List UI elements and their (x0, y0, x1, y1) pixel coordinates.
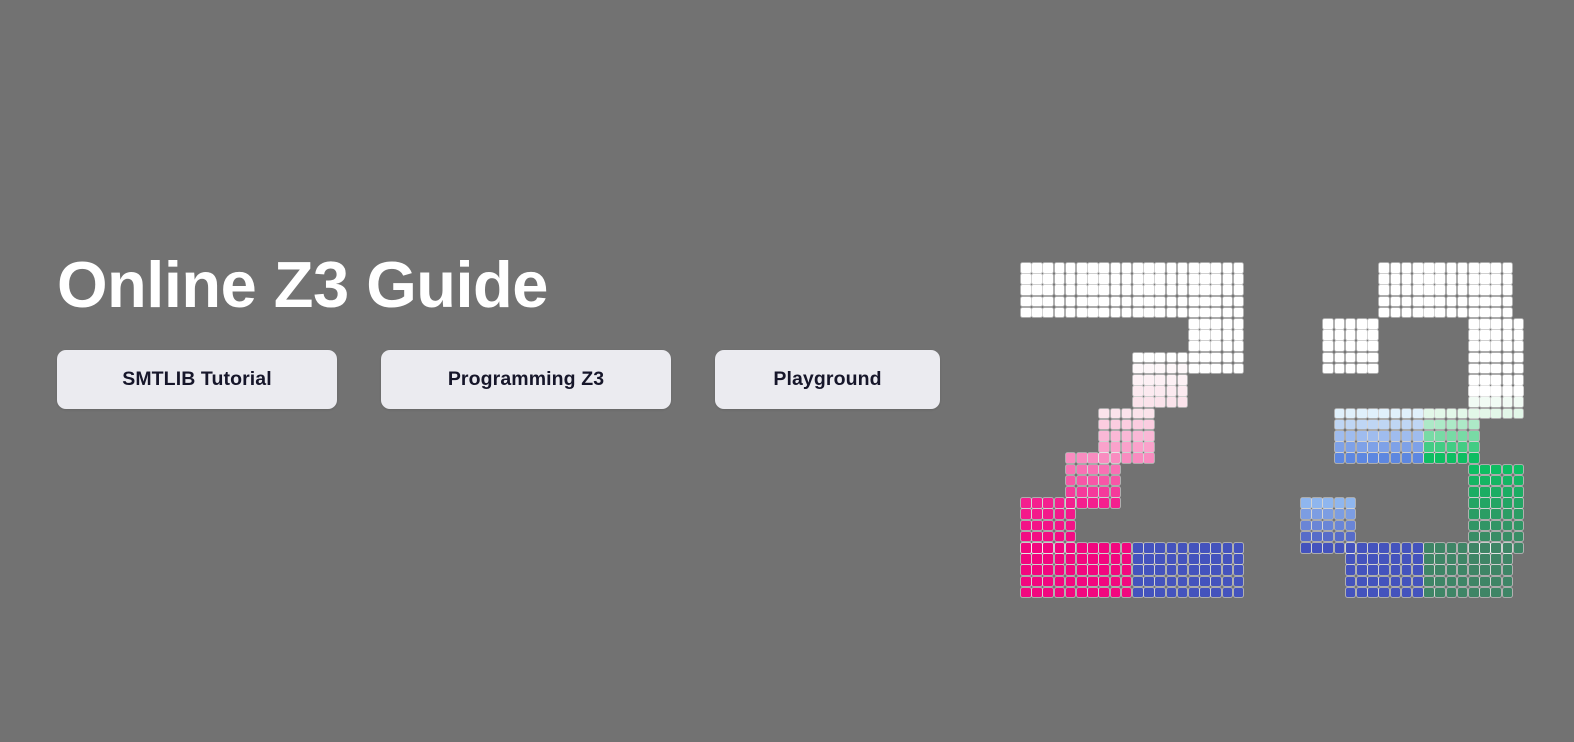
logo-pixel (1043, 554, 1053, 564)
logo-pixel (1066, 565, 1076, 575)
logo-pixel (1200, 285, 1210, 295)
logo-pixel (1335, 409, 1345, 419)
logo-pixel (1301, 498, 1311, 508)
logo-pixel (1223, 577, 1233, 587)
logo-pixel (1066, 498, 1076, 508)
logo-pixel (1167, 375, 1177, 385)
logo-pixel (1223, 588, 1233, 598)
logo-pixel (1469, 431, 1479, 441)
logo-pixel (1447, 263, 1457, 273)
logo-pixel (1111, 487, 1121, 497)
page-root: Online Z3 Guide SMTLIB Tutorial Programm… (0, 0, 1574, 742)
logo-pixel (1167, 364, 1177, 374)
logo-pixel (1469, 263, 1479, 273)
logo-pixel (1435, 263, 1445, 273)
logo-pixel (1223, 364, 1233, 374)
logo-pixel (1514, 409, 1524, 419)
logo-pixel (1391, 442, 1401, 452)
logo-pixel (1480, 509, 1490, 519)
logo-pixel (1178, 274, 1188, 284)
logo-pixel (1155, 263, 1165, 273)
logo-pixel (1211, 565, 1221, 575)
logo-pixel (1178, 297, 1188, 307)
logo-pixel (1335, 453, 1345, 463)
playground-button[interactable]: Playground (715, 350, 940, 409)
logo-pixel (1043, 297, 1053, 307)
logo-pixel (1458, 453, 1468, 463)
logo-pixel (1211, 297, 1221, 307)
logo-pixel (1424, 285, 1434, 295)
logo-pixel (1480, 386, 1490, 396)
logo-pixel (1200, 263, 1210, 273)
logo-pixel (1346, 588, 1356, 598)
logo-pixel (1503, 341, 1513, 351)
logo-pixel (1391, 577, 1401, 587)
logo-pixel (1323, 509, 1333, 519)
hero-section: Online Z3 Guide SMTLIB Tutorial Programm… (57, 252, 957, 409)
logo-pixel (1480, 577, 1490, 587)
logo-pixel (1066, 532, 1076, 542)
logo-pixel (1379, 285, 1389, 295)
logo-pixel (1391, 308, 1401, 318)
logo-pixel (1503, 532, 1513, 542)
logo-pixel (1480, 554, 1490, 564)
logo-pixel (1435, 297, 1445, 307)
logo-pixel (1491, 554, 1501, 564)
logo-pixel (1368, 319, 1378, 329)
logo-pixel (1155, 274, 1165, 284)
logo-pixel (1503, 554, 1513, 564)
logo-pixel (1088, 498, 1098, 508)
logo-pixel (1133, 386, 1143, 396)
logo-pixel (1200, 565, 1210, 575)
logo-pixel (1514, 532, 1524, 542)
logo-pixel (1099, 588, 1109, 598)
logo-pixel (1413, 588, 1423, 598)
logo-pixel (1133, 420, 1143, 430)
logo-pixel (1503, 409, 1513, 419)
logo-pixel (1234, 588, 1244, 598)
logo-pixel (1480, 364, 1490, 374)
logo-pixel (1133, 565, 1143, 575)
logo-pixel (1335, 353, 1345, 363)
logo-pixel (1368, 453, 1378, 463)
primary-nav-button-row: SMTLIB Tutorial Programming Z3 Playgroun… (57, 350, 957, 409)
logo-pixel (1167, 263, 1177, 273)
logo-pixel (1223, 543, 1233, 553)
logo-pixel (1435, 431, 1445, 441)
logo-pixel (1469, 565, 1479, 575)
logo-pixel (1480, 341, 1490, 351)
logo-pixel (1379, 274, 1389, 284)
logo-pixel (1055, 565, 1065, 575)
logo-pixel (1189, 274, 1199, 284)
logo-pixel (1480, 308, 1490, 318)
logo-pixel (1043, 498, 1053, 508)
logo-pixel (1480, 532, 1490, 542)
logo-pixel (1223, 274, 1233, 284)
logo-pixel (1223, 308, 1233, 318)
logo-pixel (1503, 487, 1513, 497)
logo-pixel (1312, 509, 1322, 519)
logo-pixel (1189, 319, 1199, 329)
logo-pixel (1111, 588, 1121, 598)
logo-pixel (1368, 577, 1378, 587)
logo-pixel (1469, 397, 1479, 407)
logo-pixel (1346, 442, 1356, 452)
logo-pixel (1189, 543, 1199, 553)
logo-pixel (1312, 498, 1322, 508)
logo-pixel (1357, 330, 1367, 340)
logo-pixel (1514, 498, 1524, 508)
logo-pixel (1514, 465, 1524, 475)
logo-pixel (1144, 308, 1154, 318)
logo-pixel (1346, 509, 1356, 519)
logo-pixel (1200, 364, 1210, 374)
logo-pixel (1133, 274, 1143, 284)
logo-pixel (1413, 285, 1423, 295)
logo-pixel (1480, 375, 1490, 385)
logo-pixel (1077, 577, 1087, 587)
logo-pixel (1032, 577, 1042, 587)
logo-pixel (1469, 465, 1479, 475)
logo-pixel (1458, 554, 1468, 564)
logo-pixel (1391, 409, 1401, 419)
logo-pixel (1424, 409, 1434, 419)
logo-pixel (1043, 565, 1053, 575)
logo-pixel (1503, 509, 1513, 519)
logo-pixel (1447, 577, 1457, 587)
logo-pixel (1021, 554, 1031, 564)
logo-pixel (1111, 498, 1121, 508)
logo-pixel (1391, 431, 1401, 441)
logo-pixel (1301, 532, 1311, 542)
logo-pixel (1514, 364, 1524, 374)
logo-pixel (1469, 498, 1479, 508)
logo-pixel (1066, 554, 1076, 564)
logo-pixel (1335, 498, 1345, 508)
logo-pixel (1469, 476, 1479, 486)
logo-pixel (1469, 364, 1479, 374)
logo-pixel (1368, 442, 1378, 452)
logo-pixel (1514, 521, 1524, 531)
logo-pixel (1021, 521, 1031, 531)
logo-pixel (1368, 543, 1378, 553)
logo-pixel (1413, 297, 1423, 307)
logo-pixel (1413, 554, 1423, 564)
logo-pixel (1379, 420, 1389, 430)
logo-pixel (1335, 341, 1345, 351)
logo-pixel (1447, 297, 1457, 307)
logo-pixel (1346, 554, 1356, 564)
logo-pixel (1402, 442, 1412, 452)
logo-pixel (1099, 285, 1109, 295)
logo-pixel (1234, 274, 1244, 284)
logo-pixel (1144, 442, 1154, 452)
logo-pixel (1043, 543, 1053, 553)
logo-pixel (1435, 308, 1445, 318)
logo-pixel (1458, 565, 1468, 575)
logo-pixel (1133, 263, 1143, 273)
logo-pixel (1491, 308, 1501, 318)
logo-pixel (1155, 353, 1165, 363)
logo-pixel (1447, 554, 1457, 564)
logo-pixel (1200, 297, 1210, 307)
logo-pixel (1133, 297, 1143, 307)
logo-pixel (1447, 274, 1457, 284)
logo-pixel (1189, 353, 1199, 363)
logo-pixel (1055, 543, 1065, 553)
logo-pixel (1424, 420, 1434, 430)
logo-pixel (1133, 431, 1143, 441)
logo-pixel (1189, 285, 1199, 295)
logo-pixel (1189, 263, 1199, 273)
logo-pixel (1122, 588, 1132, 598)
logo-pixel (1234, 364, 1244, 374)
logo-pixel (1043, 532, 1053, 542)
logo-pixel (1133, 409, 1143, 419)
logo-pixel (1122, 263, 1132, 273)
logo-pixel (1066, 509, 1076, 519)
logo-pixel (1424, 308, 1434, 318)
logo-pixel (1435, 577, 1445, 587)
logo-pixel (1122, 308, 1132, 318)
logo-pixel (1178, 577, 1188, 587)
logo-pixel (1323, 532, 1333, 542)
logo-pixel (1469, 509, 1479, 519)
programming-z3-button[interactable]: Programming Z3 (381, 350, 671, 409)
logo-pixel (1055, 308, 1065, 318)
logo-pixel (1111, 465, 1121, 475)
logo-pixel (1155, 308, 1165, 318)
logo-pixel (1111, 476, 1121, 486)
logo-pixel (1357, 319, 1367, 329)
logo-pixel (1099, 297, 1109, 307)
logo-pixel (1357, 409, 1367, 419)
logo-pixel (1323, 353, 1333, 363)
logo-pixel (1189, 565, 1199, 575)
logo-pixel (1144, 285, 1154, 295)
logo-pixel (1211, 263, 1221, 273)
logo-pixel (1503, 375, 1513, 385)
logo-pixel (1088, 476, 1098, 486)
logo-pixel (1312, 543, 1322, 553)
logo-pixel (1402, 543, 1412, 553)
logo-pixel (1088, 577, 1098, 587)
logo-pixel (1391, 588, 1401, 598)
logo-pixel (1189, 554, 1199, 564)
logo-pixel (1480, 353, 1490, 363)
logo-pixel (1491, 521, 1501, 531)
logo-pixel (1211, 319, 1221, 329)
logo-pixel (1503, 476, 1513, 486)
logo-pixel (1111, 565, 1121, 575)
logo-pixel (1435, 442, 1445, 452)
logo-pixel (1402, 409, 1412, 419)
logo-pixel (1021, 588, 1031, 598)
logo-pixel (1424, 431, 1434, 441)
logo-pixel (1469, 386, 1479, 396)
logo-pixel (1413, 453, 1423, 463)
logo-pixel (1223, 554, 1233, 564)
logo-pixel (1447, 565, 1457, 575)
logo-pixel (1503, 577, 1513, 587)
logo-pixel (1458, 420, 1468, 430)
logo-pixel (1503, 274, 1513, 284)
logo-pixel (1178, 375, 1188, 385)
logo-pixel (1335, 431, 1345, 441)
logo-pixel (1099, 431, 1109, 441)
logo-pixel (1458, 431, 1468, 441)
logo-pixel (1503, 521, 1513, 531)
logo-pixel (1480, 285, 1490, 295)
logo-pixel (1200, 554, 1210, 564)
logo-pixel (1099, 409, 1109, 419)
logo-pixel (1189, 364, 1199, 374)
logo-pixel (1469, 532, 1479, 542)
logo-pixel (1211, 274, 1221, 284)
logo-pixel (1491, 498, 1501, 508)
logo-pixel (1234, 319, 1244, 329)
logo-pixel (1379, 543, 1389, 553)
logo-pixel (1346, 521, 1356, 531)
logo-pixel (1391, 420, 1401, 430)
logo-pixel (1144, 397, 1154, 407)
logo-pixel (1133, 577, 1143, 587)
logo-pixel (1099, 476, 1109, 486)
logo-pixel (1133, 588, 1143, 598)
logo-pixel (1346, 330, 1356, 340)
logo-pixel (1391, 554, 1401, 564)
logo-pixel (1133, 442, 1143, 452)
logo-pixel (1066, 453, 1076, 463)
logo-pixel (1133, 308, 1143, 318)
logo-pixel (1424, 565, 1434, 575)
logo-pixel (1099, 308, 1109, 318)
logo-pixel (1391, 274, 1401, 284)
logo-pixel (1514, 509, 1524, 519)
logo-pixel (1346, 409, 1356, 419)
logo-pixel (1144, 565, 1154, 575)
logo-pixel (1144, 375, 1154, 385)
logo-pixel (1514, 375, 1524, 385)
logo-pixel (1469, 554, 1479, 564)
logo-pixel (1066, 521, 1076, 531)
logo-pixel (1379, 308, 1389, 318)
logo-pixel (1178, 397, 1188, 407)
logo-pixel (1458, 577, 1468, 587)
logo-pixel (1122, 565, 1132, 575)
logo-pixel (1122, 554, 1132, 564)
logo-pixel (1211, 577, 1221, 587)
logo-pixel (1055, 577, 1065, 587)
logo-pixel (1312, 521, 1322, 531)
logo-pixel (1469, 588, 1479, 598)
logo-pixel (1178, 353, 1188, 363)
logo-pixel (1099, 263, 1109, 273)
logo-pixel (1032, 498, 1042, 508)
logo-pixel (1032, 543, 1042, 553)
logo-pixel (1458, 543, 1468, 553)
logo-pixel (1503, 386, 1513, 396)
logo-pixel (1480, 409, 1490, 419)
logo-pixel (1099, 498, 1109, 508)
logo-pixel (1312, 532, 1322, 542)
logo-pixel (1021, 308, 1031, 318)
logo-pixel (1234, 330, 1244, 340)
logo-pixel (1323, 543, 1333, 553)
logo-pixel (1200, 308, 1210, 318)
logo-pixel (1413, 274, 1423, 284)
logo-pixel (1357, 577, 1367, 587)
logo-pixel (1424, 442, 1434, 452)
logo-pixel (1491, 532, 1501, 542)
logo-pixel (1480, 330, 1490, 340)
logo-pixel (1066, 577, 1076, 587)
logo-pixel (1167, 386, 1177, 396)
logo-pixel (1491, 465, 1501, 475)
logo-pixel (1144, 543, 1154, 553)
logo-pixel (1491, 341, 1501, 351)
logo-pixel (1447, 285, 1457, 295)
logo-pixel (1133, 453, 1143, 463)
logo-pixel (1424, 577, 1434, 587)
logo-pixel (1234, 263, 1244, 273)
logo-pixel (1402, 285, 1412, 295)
logo-pixel (1223, 297, 1233, 307)
logo-pixel (1469, 577, 1479, 587)
smtlib-tutorial-button[interactable]: SMTLIB Tutorial (57, 350, 337, 409)
logo-pixel (1469, 353, 1479, 363)
logo-pixel (1088, 263, 1098, 273)
logo-pixel (1211, 543, 1221, 553)
logo-pixel (1077, 543, 1087, 553)
logo-pixel (1021, 263, 1031, 273)
logo-pixel (1055, 554, 1065, 564)
logo-pixel (1514, 476, 1524, 486)
logo-pixel (1335, 521, 1345, 531)
logo-pixel (1435, 588, 1445, 598)
logo-pixel (1402, 274, 1412, 284)
logo-pixel (1223, 263, 1233, 273)
logo-pixel (1111, 420, 1121, 430)
logo-pixel (1066, 297, 1076, 307)
logo-pixel (1391, 543, 1401, 553)
logo-pixel (1021, 274, 1031, 284)
logo-pixel (1402, 453, 1412, 463)
logo-pixel (1234, 341, 1244, 351)
logo-pixel (1167, 297, 1177, 307)
logo-pixel (1379, 453, 1389, 463)
logo-pixel (1144, 364, 1154, 374)
page-title: Online Z3 Guide (57, 252, 957, 317)
logo-pixel (1178, 285, 1188, 295)
logo-pixel (1077, 453, 1087, 463)
logo-pixel (1480, 397, 1490, 407)
logo-pixel (1088, 453, 1098, 463)
logo-pixel (1503, 565, 1513, 575)
logo-pixel (1122, 420, 1132, 430)
logo-pixel (1133, 285, 1143, 295)
logo-pixel (1200, 330, 1210, 340)
logo-pixel (1503, 308, 1513, 318)
logo-pixel (1402, 588, 1412, 598)
logo-pixel (1200, 319, 1210, 329)
logo-pixel (1480, 565, 1490, 575)
logo-pixel (1335, 509, 1345, 519)
logo-pixel (1391, 565, 1401, 575)
logo-pixel (1155, 375, 1165, 385)
